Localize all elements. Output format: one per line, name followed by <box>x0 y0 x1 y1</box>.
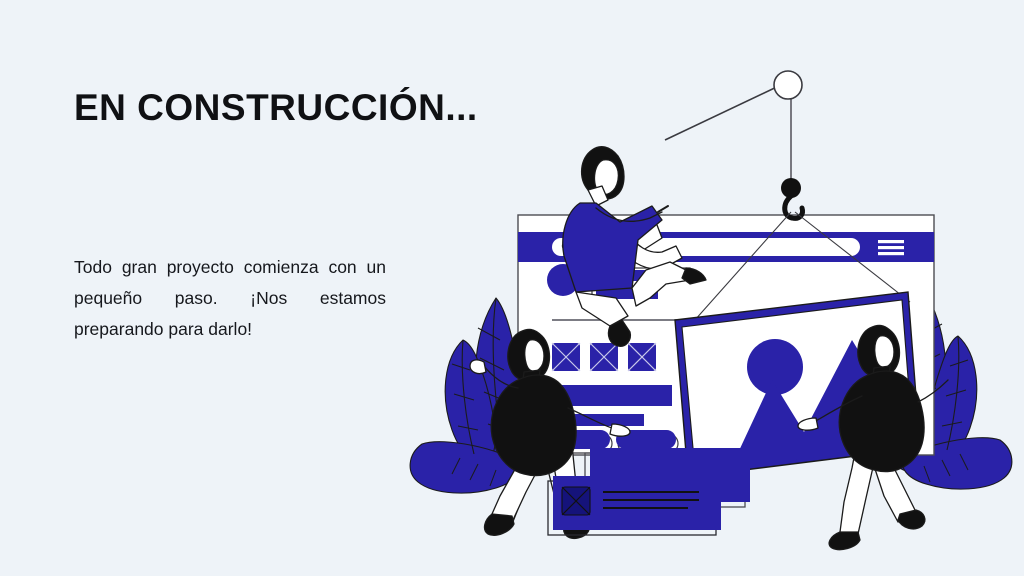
pulley-wheel <box>774 71 802 99</box>
slide-canvas: EN CONSTRUCCIÓN... Todo gran proyecto co… <box>0 0 1024 576</box>
body-paragraph: Todo gran proyecto comienza con un peque… <box>74 252 386 345</box>
shoe-left <box>485 514 514 535</box>
text-column: EN CONSTRUCCIÓN... <box>74 88 404 129</box>
shoe-right <box>898 510 925 529</box>
front-card <box>548 476 721 535</box>
shoe-left <box>829 532 860 550</box>
hamburger-menu-icon[interactable] <box>878 240 904 255</box>
under-construction-illustration <box>400 40 1024 560</box>
hand-left <box>470 360 486 374</box>
rope-line <box>665 84 783 140</box>
image-x-box-icon <box>562 487 590 515</box>
dress <box>491 375 576 476</box>
thumbnail-placeholders <box>552 343 656 371</box>
bottom-cards <box>548 448 750 535</box>
page-title: EN CONSTRUCCIÓN... <box>74 88 404 129</box>
dress <box>839 371 924 472</box>
